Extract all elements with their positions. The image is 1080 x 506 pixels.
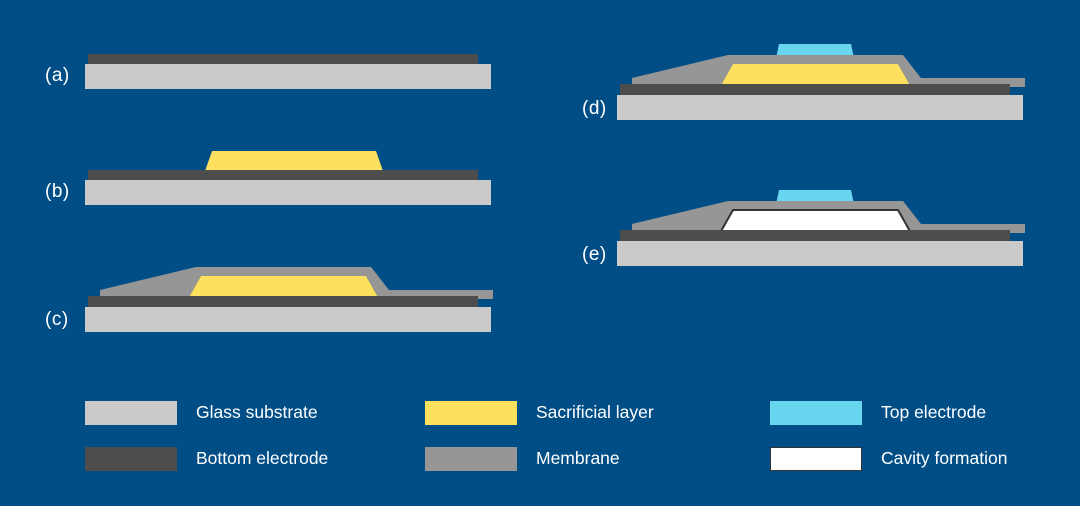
legend-swatch-bottom-electrode (85, 447, 177, 471)
legend-item-top-electrode: Top electrode (770, 401, 1035, 425)
legend-item-glass-substrate: Glass substrate (85, 401, 425, 425)
panel-label-c: (c) (45, 310, 69, 329)
panel-d-glass-substrate (617, 95, 1023, 120)
panel-c-sacrificial-layer (188, 276, 379, 299)
panel-label-e: (e) (582, 245, 607, 264)
panel-e-artwork (617, 190, 1025, 266)
panel-a-glass-substrate (85, 64, 491, 89)
panel-a-bottom-electrode (88, 54, 478, 64)
legend-swatch-membrane (425, 447, 517, 471)
legend-swatch-sacrificial-layer (425, 401, 517, 425)
legend-label-bottom-electrode: Bottom electrode (196, 450, 328, 468)
panel-label-a: (a) (45, 66, 70, 85)
legend-item-bottom-electrode: Bottom electrode (85, 447, 425, 471)
legend-label-membrane: Membrane (536, 450, 620, 468)
legend-item-membrane: Membrane (425, 447, 770, 471)
legend-swatch-glass-substrate (85, 401, 177, 425)
panel-c-artwork (85, 267, 493, 332)
panel-label-b: (b) (45, 182, 70, 201)
legend-label-sacrificial-layer: Sacrificial layer (536, 404, 654, 422)
panel-b-glass-substrate (85, 180, 491, 205)
panel-c-bottom-electrode (88, 296, 478, 307)
legend: Glass substrate Sacrificial layer Top el… (85, 390, 1035, 482)
legend-swatch-cavity-formation (770, 447, 862, 471)
panel-d-bottom-electrode (620, 84, 1010, 95)
panel-a-artwork (85, 54, 491, 89)
panel-b-artwork (85, 151, 491, 205)
panel-e-cavity-formation (720, 210, 911, 233)
panel-d-sacrificial-layer (720, 64, 911, 87)
legend-item-sacrificial-layer: Sacrificial layer (425, 401, 770, 425)
panel-b-bottom-electrode (88, 170, 478, 180)
panel-d-artwork (617, 44, 1025, 120)
panel-e-bottom-electrode (620, 230, 1010, 241)
legend-item-cavity-formation: Cavity formation (770, 447, 1035, 471)
panel-c-glass-substrate (85, 307, 491, 332)
legend-swatch-top-electrode (770, 401, 862, 425)
panel-e-glass-substrate (617, 241, 1023, 266)
legend-label-glass-substrate: Glass substrate (196, 404, 318, 422)
panel-label-d: (d) (582, 99, 607, 118)
process-flow-diagram: (a) (b) (c) (d) (e) Glass substrate Sacr… (0, 0, 1080, 506)
legend-label-top-electrode: Top electrode (881, 404, 986, 422)
legend-label-cavity-formation: Cavity formation (881, 450, 1007, 468)
